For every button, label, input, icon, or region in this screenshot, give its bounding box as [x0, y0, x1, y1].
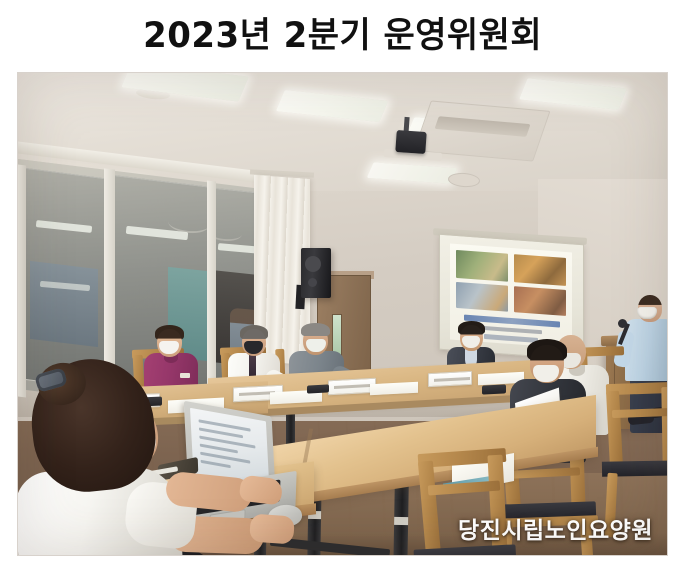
- chair-back-post: [661, 387, 668, 465]
- name-placard: [328, 378, 376, 396]
- ceiling-projector-icon: [395, 130, 426, 154]
- microphone-head: [618, 319, 627, 328]
- speaker-cone: [305, 256, 321, 272]
- watermark: 당진시립노인요양원: [458, 511, 653, 545]
- slide-logo: [484, 334, 538, 343]
- placard-text-line: [434, 377, 470, 382]
- hand: [249, 513, 295, 544]
- wall-speaker-icon: [301, 248, 331, 298]
- table-leg: [393, 483, 409, 556]
- slide-photo-thumbnail: [514, 254, 566, 286]
- name-tag: [180, 373, 190, 378]
- leg-tape: [394, 517, 408, 525]
- placard-text-line: [334, 384, 370, 389]
- slide-photo-thumbnail: [514, 286, 566, 316]
- window-mullion: [207, 181, 216, 404]
- ac-vent: [435, 116, 531, 137]
- speaker-tweeter: [308, 278, 317, 287]
- adjacent-room-panel: [30, 261, 98, 347]
- meeting-photo: 당진시립노인요양원: [17, 72, 668, 556]
- phone-on-table: [482, 384, 506, 394]
- phone-on-table: [307, 384, 329, 393]
- display-text-line: [201, 460, 231, 468]
- slide-photo-thumbnail: [456, 282, 508, 312]
- page-title: 2023년 2분기 운영위원회: [143, 19, 542, 54]
- slide-photo-thumbnail: [456, 250, 508, 282]
- slide-subtitle-text: [480, 326, 542, 335]
- window-mullion: [18, 165, 26, 398]
- name-placard: [428, 371, 472, 387]
- title-bar: 2023년 2분기 운영위원회: [0, 0, 685, 72]
